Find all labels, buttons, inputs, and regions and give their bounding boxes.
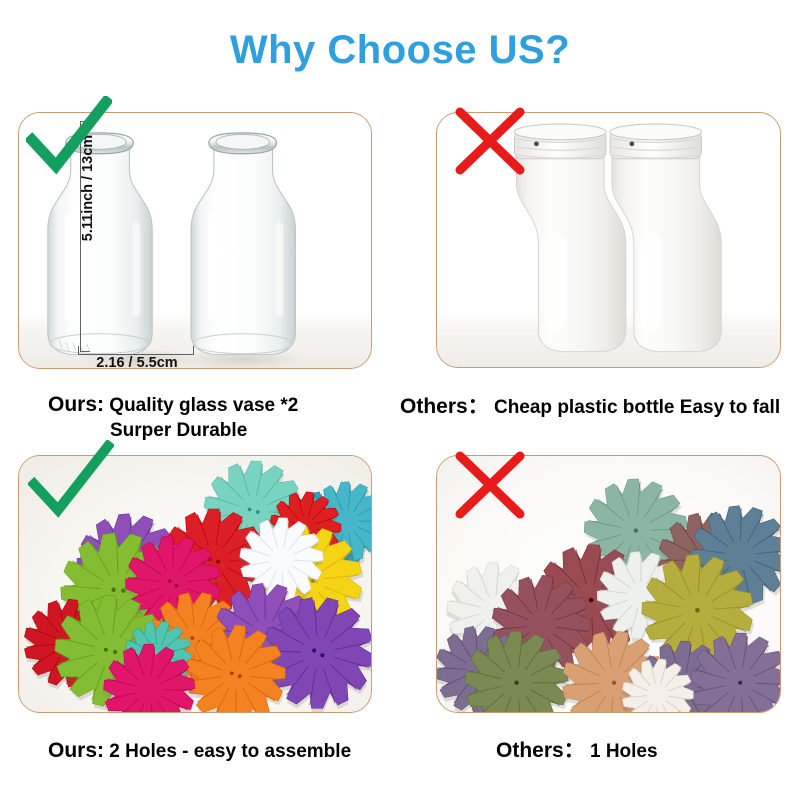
panel-ours-glass-bottles [18,112,372,369]
width-dimension-line [78,346,194,355]
bright-felt-flowers-illustration [19,456,371,713]
caption-text: 2 Holes - easy to assemble [109,741,351,762]
caption-lead: Ours: [48,739,104,762]
caption-text: Cheap plastic bottle Easy to fall [494,397,780,418]
caption-lead: Others： [400,395,489,418]
glass-bottles-illustration [19,113,371,369]
caption-lead: Others： [496,739,585,762]
height-dimension-label: 5.11inch / 13cm [80,128,96,248]
dull-felt-flowers-illustration [437,456,780,713]
promo-infographic: Why Choose US? [0,0,800,800]
caption-lead: Ours: [48,393,104,416]
caption-text-line2: Surper Durable [48,418,298,443]
panel-others-plastic-bottles [436,112,781,368]
caption-others-bottles: Others： Cheap plastic bottle Easy to fal… [400,394,780,420]
caption-others-flowers: Others： 1 Holes [496,738,658,764]
panel-ours-felt-flowers [18,455,372,713]
page-title: Why Choose US? [0,26,800,74]
caption-text: 1 Holes [590,741,658,762]
caption-ours-flowers: Ours: 2 Holes - easy to assemble [48,738,351,764]
caption-ours-bottles: Ours: Quality glass vase *2 Surper Durab… [48,392,298,443]
width-dimension-label: 2.16 / 5.5cm [72,355,202,371]
plastic-bottles-illustration [437,113,780,368]
caption-text: Quality glass vase *2 [109,395,298,416]
panel-others-felt-flowers [436,455,781,713]
